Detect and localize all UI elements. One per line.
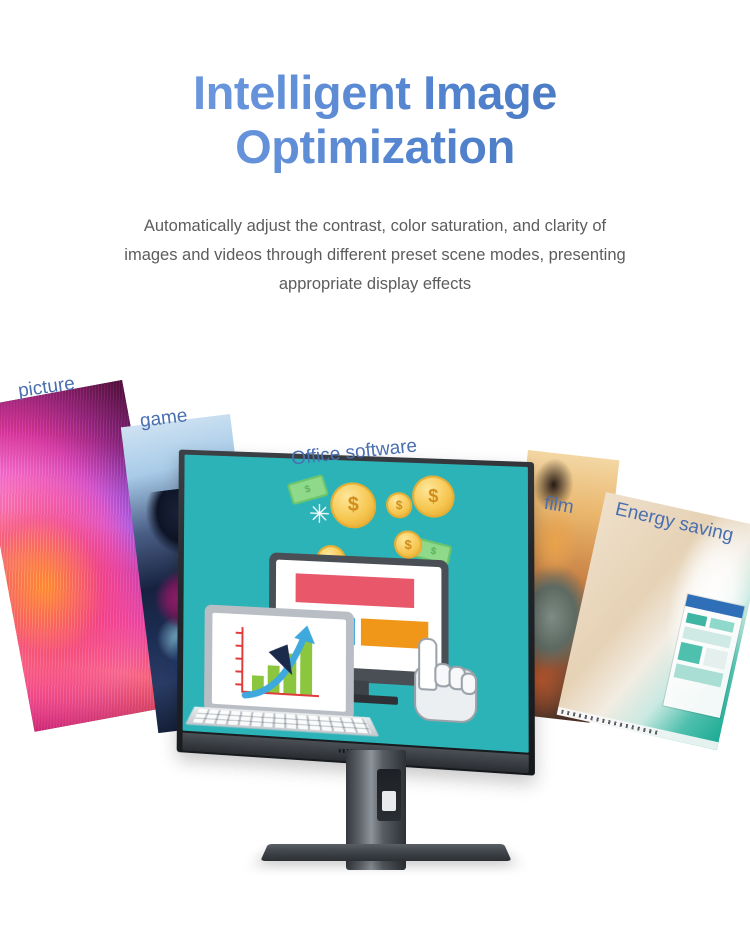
hand-finger <box>461 672 477 695</box>
display-monitor: ✳ ✳ <box>174 455 532 763</box>
page-title-line-1: Intelligent Image <box>193 66 557 119</box>
start-menu-tile <box>709 618 735 633</box>
page-title-line-2: Optimization <box>0 120 750 174</box>
dollar-coin-icon <box>386 492 412 519</box>
ui-block-red <box>295 573 414 608</box>
scene-mode-fan: ✳ ✳ <box>0 352 750 942</box>
page-subtitle-line-1: Automatically adjust the contrast, color… <box>65 212 685 241</box>
start-menu-tile <box>677 642 702 664</box>
monitor-screen[interactable]: ✳ ✳ <box>183 455 529 753</box>
laptop-screen <box>212 613 346 712</box>
dollar-coin-icon <box>330 482 376 530</box>
page-subtitle: Automatically adjust the contrast, color… <box>65 174 685 299</box>
page-title: Intelligent Image Optimization <box>0 0 750 174</box>
dollar-coin-icon <box>412 475 454 519</box>
dollar-coin-icon <box>394 530 422 559</box>
page-subtitle-line-3: appropriate display effects <box>65 270 685 299</box>
page-subtitle-line-2: images and videos through different pres… <box>65 241 685 270</box>
sparkle-icon: ✳ <box>309 501 331 528</box>
start-menu-tile <box>686 613 708 627</box>
start-menu-tile <box>703 648 728 670</box>
illustrated-laptop <box>204 604 354 720</box>
pointing-hand-icon <box>408 639 479 722</box>
monitor-bezel: ✳ ✳ <box>177 450 535 776</box>
header-block: Intelligent Image Optimization Automatic… <box>0 0 750 299</box>
scene-label-film[interactable]: film <box>542 493 575 519</box>
monitor-stand-base <box>260 844 511 861</box>
product-feature-banner: Intelligent Image Optimization Automatic… <box>0 0 750 942</box>
monitor-stand-cable-slot <box>377 769 401 821</box>
